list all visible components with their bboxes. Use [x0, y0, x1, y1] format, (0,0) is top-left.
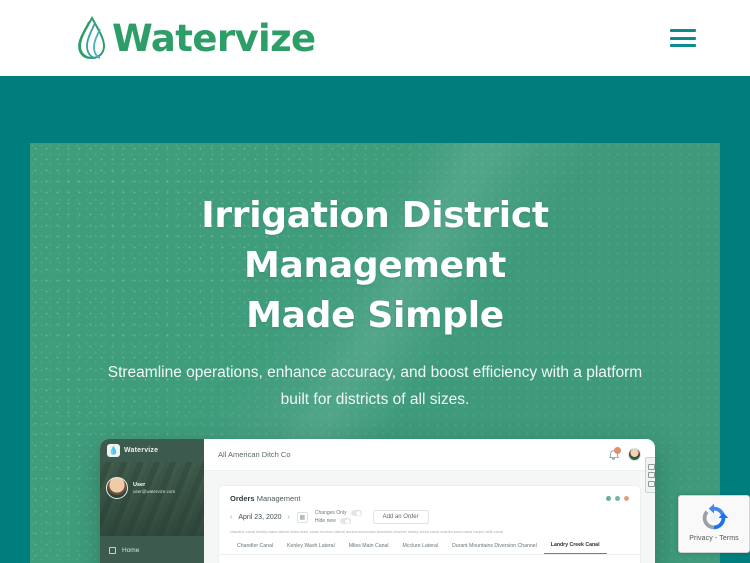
- filter-toggles: Changes Only Hide new: [315, 510, 362, 524]
- hero-panel: Irrigation District Management Made Simp…: [30, 143, 720, 563]
- home-icon: [109, 547, 116, 554]
- app-topbar: All American Ditch Co: [204, 439, 655, 471]
- prev-date-arrow[interactable]: ‹: [230, 514, 232, 521]
- hamburger-menu-icon[interactable]: [670, 27, 698, 49]
- toggle-changes-only[interactable]: Changes Only: [315, 510, 362, 516]
- sidebar-item-label: Home: [122, 547, 139, 554]
- orders-card-title: Orders Management: [230, 494, 300, 503]
- tab-landry-creek-canal[interactable]: Landry Creek Canal: [544, 538, 607, 554]
- tab-chandler-canal[interactable]: Chandler Canal: [230, 539, 280, 554]
- current-date: April 23, 2020: [238, 514, 281, 521]
- app-main-pane: All American Ditch Co: [204, 439, 655, 563]
- app-user-email: user@watervize.com: [133, 489, 175, 495]
- date-navigator[interactable]: ‹ April 23, 2020 ›: [230, 514, 290, 521]
- app-org-name: All American Ditch Co: [218, 450, 291, 459]
- hero-subtitle-line-2: built for districts of all sizes.: [281, 391, 470, 408]
- app-sidebar-logo-label: Watervize: [124, 447, 158, 454]
- calendar-icon[interactable]: ▦: [297, 512, 308, 523]
- brand-name: Watervize: [112, 17, 316, 60]
- hero-subtitle-line-1: Streamline operations, enhance accuracy,…: [108, 364, 642, 381]
- toggle-switch[interactable]: [340, 518, 351, 524]
- hero-title-line-1: Irrigation District: [30, 191, 720, 241]
- app-droplet-icon: 💧: [107, 444, 120, 457]
- toggle-hide-new[interactable]: Hide new: [315, 518, 362, 524]
- orders-card: Orders Management ‹ April 23, 2020 ›: [218, 485, 641, 563]
- avatar[interactable]: [628, 448, 641, 461]
- canal-tabs: Chandler Canal Kenley Wash Lateral Miles…: [219, 538, 640, 555]
- avatar: [106, 477, 128, 499]
- landing-page: Watervize Irrigation District Management…: [0, 0, 750, 563]
- orders-card-title-rest: Management: [255, 494, 301, 503]
- water-droplet-icon: [76, 16, 106, 60]
- orders-card-title-bold: Orders: [230, 494, 255, 503]
- site-header: Watervize: [0, 0, 750, 76]
- hero-title-line-2: Management: [30, 241, 720, 291]
- toggle-hide-new-label: Hide new: [315, 518, 336, 524]
- hero-title-line-3: Made Simple: [30, 291, 720, 341]
- app-user-name: User: [133, 482, 175, 489]
- toggle-switch[interactable]: [351, 510, 362, 516]
- brand-logo[interactable]: Watervize: [76, 16, 316, 60]
- tab-kenley-wash-lateral[interactable]: Kenley Wash Lateral: [280, 539, 342, 554]
- sidebar-hero-photo: [100, 462, 204, 536]
- hero-subtitle: Streamline operations, enhance accuracy,…: [105, 359, 645, 413]
- sidebar-item-home[interactable]: Home: [100, 541, 204, 560]
- tab-durant-mountains-diversion-channel[interactable]: Durant Mountains Diversion Channel: [445, 539, 544, 554]
- next-date-arrow[interactable]: ›: [288, 514, 290, 521]
- panel-toggle-icon[interactable]: [645, 457, 655, 493]
- recaptcha-label[interactable]: Privacy - Terms: [689, 535, 739, 542]
- tab-mcclure-lateral[interactable]: Mcclure Lateral: [396, 539, 445, 554]
- notification-bell-icon[interactable]: [608, 449, 619, 460]
- app-sidebar-logo[interactable]: 💧 Watervize: [107, 444, 158, 457]
- product-screenshot: 💧 Watervize User user@watervize.com: [100, 439, 655, 563]
- canal-slug-list: chandler-canal kenley-wash-lateral miles…: [219, 529, 640, 536]
- hero-title: Irrigation District Management Made Simp…: [30, 191, 720, 341]
- app-sidebar: 💧 Watervize User user@watervize.com: [100, 439, 204, 563]
- app-sidebar-nav: Home My Organizations ⌄: [100, 541, 204, 563]
- recaptcha-badge[interactable]: Privacy - Terms: [678, 495, 750, 553]
- recaptcha-icon: [699, 503, 729, 533]
- toggle-changes-only-label: Changes Only: [315, 510, 347, 516]
- add-order-button[interactable]: Add an Order: [373, 510, 429, 524]
- app-user-block[interactable]: User user@watervize.com: [106, 477, 175, 499]
- status-dots: [606, 496, 629, 501]
- tab-miles-main-canal[interactable]: Miles Main Canal: [342, 539, 396, 554]
